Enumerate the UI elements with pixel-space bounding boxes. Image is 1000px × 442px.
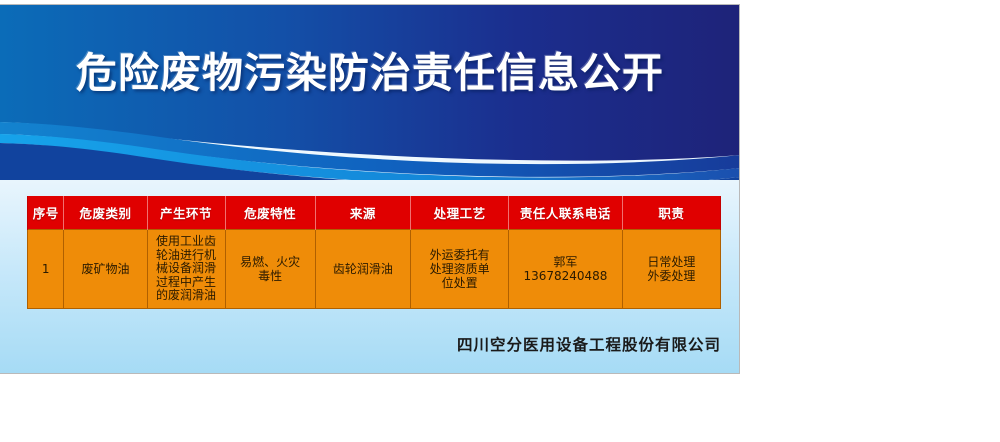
cell-treatment-process: 外运委托有 处理资质单 位处置 (410, 230, 508, 309)
cell-duty: 日常处理 外委处理 (622, 230, 720, 309)
poster-header-band (0, 5, 740, 180)
company-name: 四川空分医用设备工程股份有限公司 (0, 333, 721, 355)
treatment-line-2: 处理资质单 (414, 262, 505, 276)
cell-index: 1 (28, 230, 64, 309)
duty-line-2: 外委处理 (626, 269, 717, 283)
stage-line-1: 使用工业齿 (151, 235, 222, 249)
column-header-source: 来源 (315, 196, 410, 230)
treatment-line-3: 位处置 (414, 276, 505, 290)
contact-phone: 13678240488 (512, 269, 618, 283)
cell-category: 废矿物油 (64, 230, 147, 309)
table-header-row: 序号 危废类别 产生环节 危废特性 来源 处理工艺 责任人联系电话 职责 (28, 196, 721, 230)
cell-hazard-characteristics: 易燃、火灾 毒性 (225, 230, 315, 309)
hazard-line-2: 毒性 (229, 269, 312, 283)
stage-line-5: 的废润滑油 (151, 289, 222, 303)
hazardous-waste-table: 序号 危废类别 产生环节 危废特性 来源 处理工艺 责任人联系电话 职责 1 废… (27, 196, 721, 309)
column-header-treatment: 处理工艺 (410, 196, 508, 230)
column-header-index: 序号 (28, 196, 64, 230)
column-header-hazard: 危废特性 (225, 196, 315, 230)
treatment-line-1: 外运委托有 (414, 248, 505, 262)
hazardous-waste-table-wrapper: 序号 危废类别 产生环节 危废特性 来源 处理工艺 责任人联系电话 职责 1 废… (27, 196, 721, 309)
column-header-category: 危废类别 (64, 196, 147, 230)
cell-generation-stage: 使用工业齿 轮油进行机 械设备润滑 过程中产生 的废润滑油 (147, 230, 225, 309)
table-row: 1 废矿物油 使用工业齿 轮油进行机 械设备润滑 过程中产生 的废润滑油 易燃、… (28, 230, 721, 309)
column-header-contact: 责任人联系电话 (509, 196, 622, 230)
stage-line-3: 械设备润滑 (151, 262, 222, 276)
duty-line-1: 日常处理 (626, 255, 717, 269)
hazard-line-1: 易燃、火灾 (229, 255, 312, 269)
screenshot-canvas: 危险废物污染防治责任信息公开 序号 危废类别 (0, 0, 1000, 442)
column-header-duty: 职责 (622, 196, 720, 230)
header-wave-graphic (0, 5, 740, 180)
contact-name: 郭军 (512, 255, 618, 269)
cell-contact: 郭军 13678240488 (509, 230, 622, 309)
column-header-stage: 产生环节 (147, 196, 225, 230)
information-disclosure-poster: 危险废物污染防治责任信息公开 序号 危废类别 (0, 4, 740, 374)
cell-source: 齿轮润滑油 (315, 230, 410, 309)
